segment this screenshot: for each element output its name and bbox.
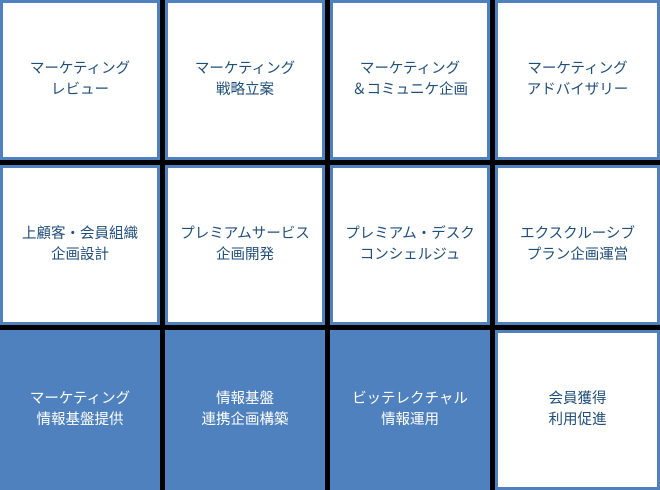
matrix-cell-r3c3[interactable]: ビッテレクチャル 情報運用 (330, 330, 490, 490)
matrix-cell-r3c1[interactable]: マーケティング 情報基盤提供 (0, 330, 160, 490)
matrix-cell-label: プレミアム・デスク コンシェルジュ (344, 224, 475, 266)
matrix-cell-r3c4[interactable]: 会員獲得 利用促進 (495, 330, 660, 490)
matrix-cell-label: マーケティング レビュー (29, 59, 131, 101)
service-matrix-grid: マーケティング レビュー マーケティング 戦略立案 マーケティング ＆コミュニケ… (0, 0, 660, 490)
matrix-cell-r1c1[interactable]: マーケティング レビュー (0, 0, 160, 160)
matrix-cell-r2c2[interactable]: プレミアムサービス 企画開発 (165, 165, 325, 325)
matrix-cell-label: 情報基盤 連携企画構築 (201, 389, 290, 431)
matrix-cell-r2c3[interactable]: プレミアム・デスク コンシェルジュ (330, 165, 490, 325)
matrix-cell-label: プレミアムサービス 企画開発 (179, 224, 310, 266)
matrix-cell-label: マーケティング 情報基盤提供 (29, 389, 131, 431)
matrix-cell-label: 上顧客・会員組織 企画設計 (21, 224, 139, 266)
matrix-cell-r1c2[interactable]: マーケティング 戦略立案 (165, 0, 325, 160)
matrix-cell-label: 会員獲得 利用促進 (548, 389, 608, 431)
matrix-cell-r2c4[interactable]: エクスクルーシブ プラン企画運営 (495, 165, 660, 325)
matrix-cell-r1c3[interactable]: マーケティング ＆コミュニケ企画 (330, 0, 490, 160)
matrix-cell-r1c4[interactable]: マーケティング アドバイザリー (495, 0, 660, 160)
matrix-cell-label: ビッテレクチャル 情報運用 (351, 389, 469, 431)
matrix-cell-label: マーケティング 戦略立案 (194, 59, 296, 101)
matrix-cell-r2c1[interactable]: 上顧客・会員組織 企画設計 (0, 165, 160, 325)
matrix-cell-label: マーケティング ＆コミュニケ企画 (351, 59, 469, 101)
matrix-cell-label: エクスクルーシブ プラン企画運営 (519, 224, 636, 266)
matrix-cell-label: マーケティング アドバイザリー (526, 59, 630, 101)
matrix-cell-r3c2[interactable]: 情報基盤 連携企画構築 (165, 330, 325, 490)
